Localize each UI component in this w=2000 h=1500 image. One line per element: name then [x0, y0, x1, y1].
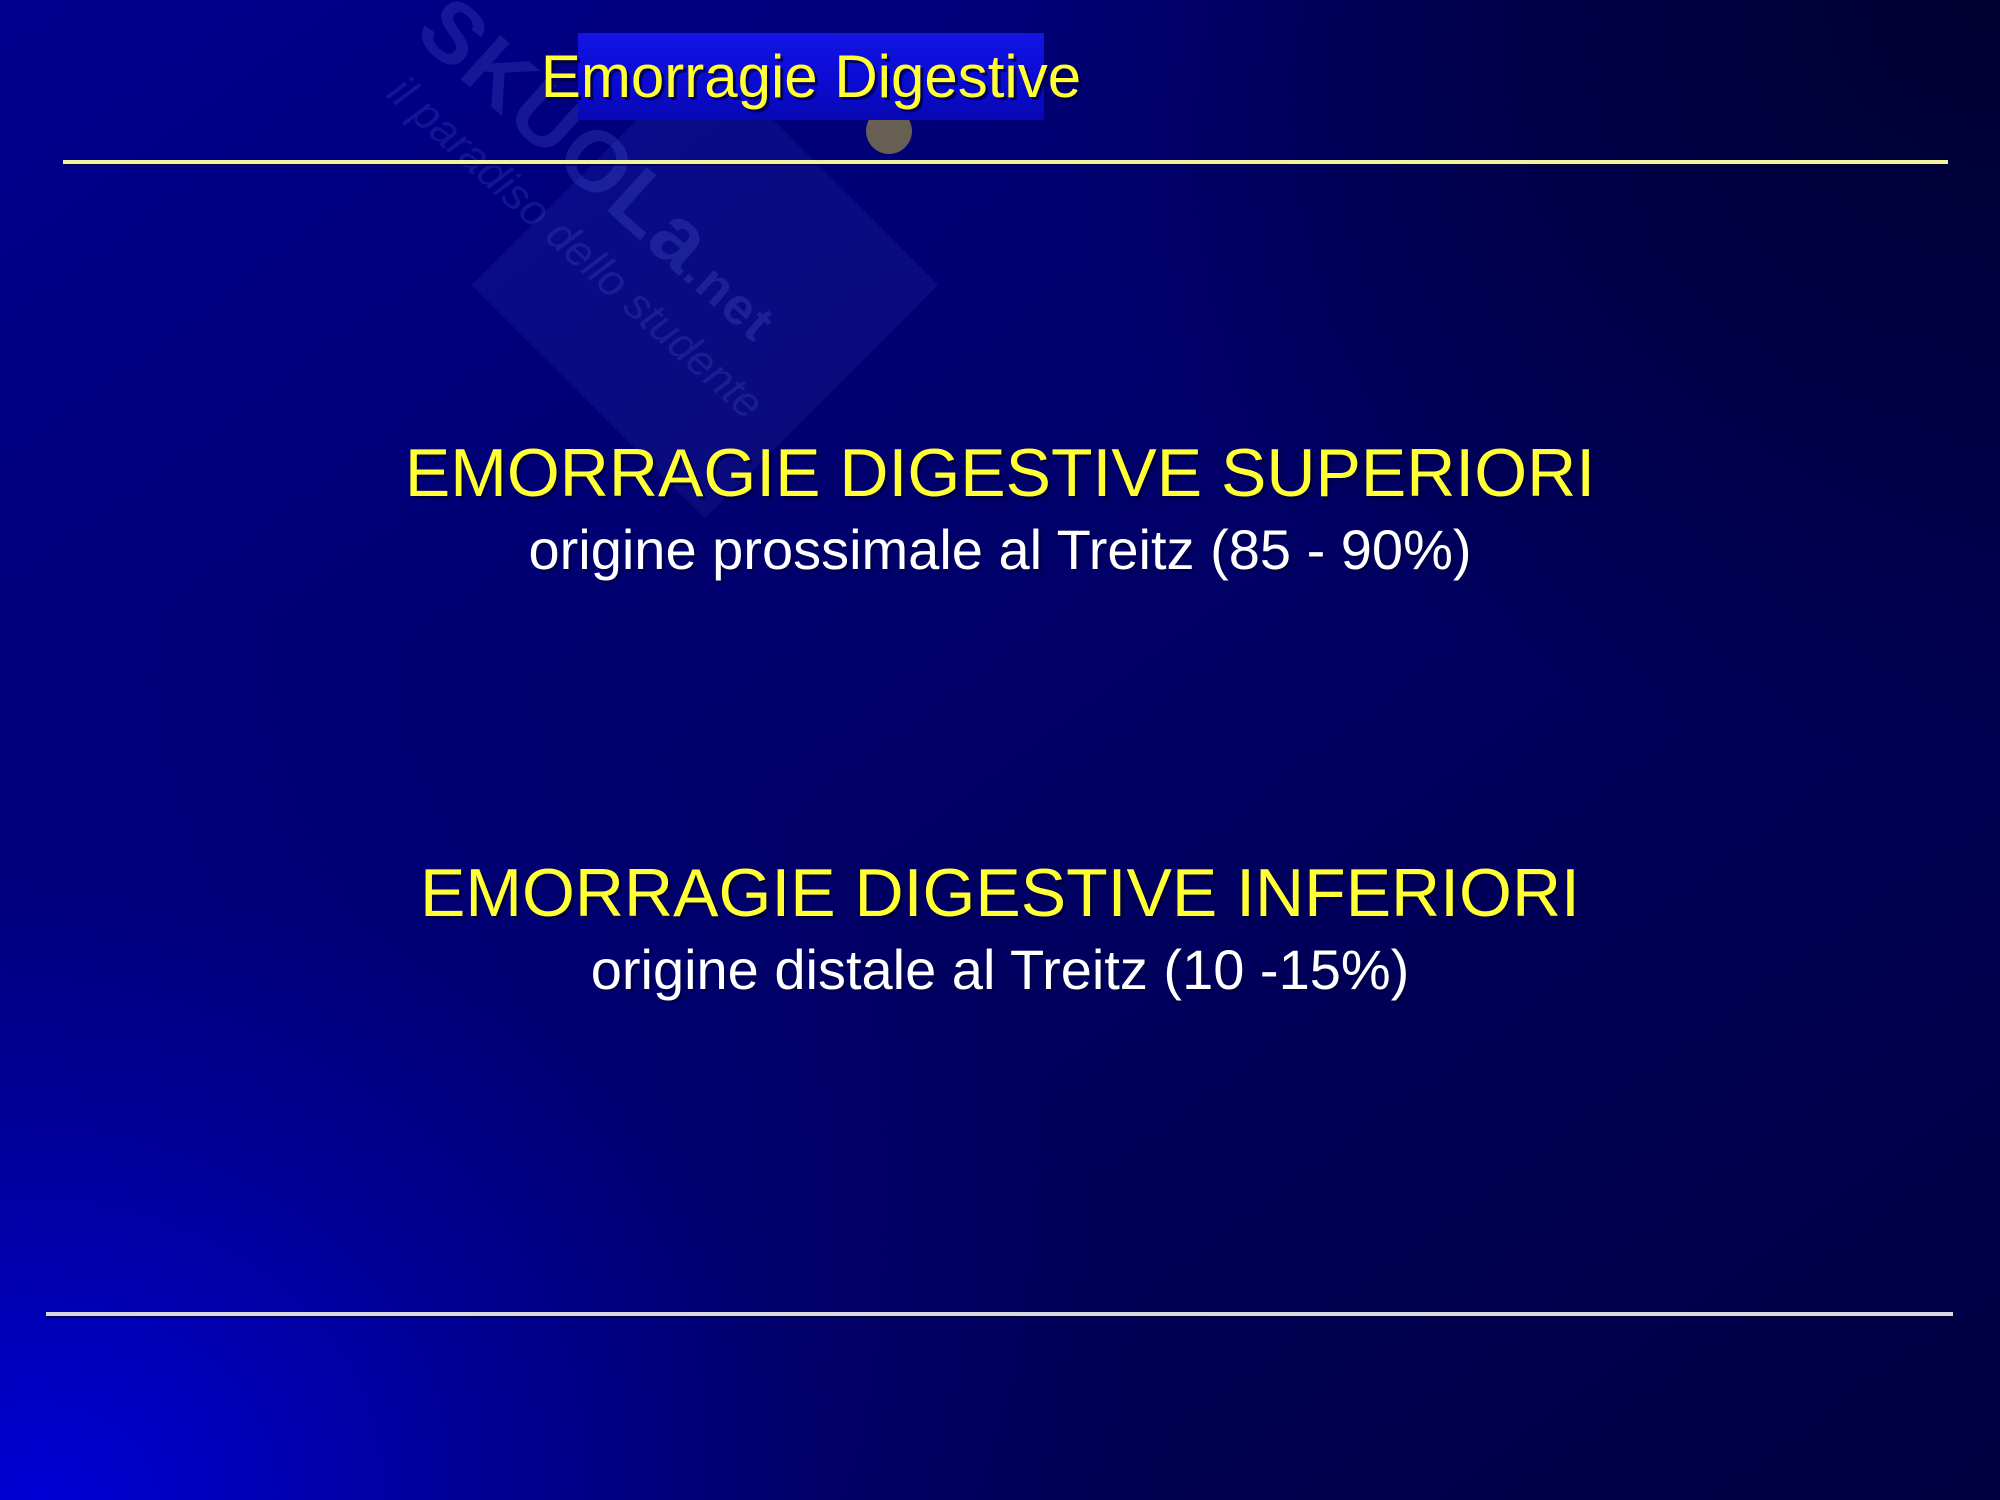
section-inferiori: EMORRAGIE DIGESTIVE INFERIORI origine di… [0, 858, 2000, 1000]
section-inferiori-subheading: origine distale al Treitz (10 -15%) [0, 941, 2000, 1000]
section-superiori-heading: EMORRAGIE DIGESTIVE SUPERIORI [0, 438, 2000, 509]
slide-canvas: SKUOLa.net il paradiso dello studente Em… [0, 0, 2000, 1500]
watermark-domain-text: .net [673, 243, 786, 353]
header-divider [63, 160, 1948, 164]
slide-title-box: Emorragie Digestive [578, 33, 1044, 120]
section-inferiori-heading: EMORRAGIE DIGESTIVE INFERIORI [0, 858, 2000, 929]
background-glow-left [0, 0, 2000, 1500]
background-glow-dark [0, 0, 2000, 1500]
section-superiori: EMORRAGIE DIGESTIVE SUPERIORI origine pr… [0, 438, 2000, 580]
section-superiori-subheading: origine prossimale al Treitz (85 - 90%) [0, 521, 2000, 580]
slide-title: Emorragie Digestive [541, 47, 1081, 107]
footer-divider [46, 1312, 1953, 1316]
